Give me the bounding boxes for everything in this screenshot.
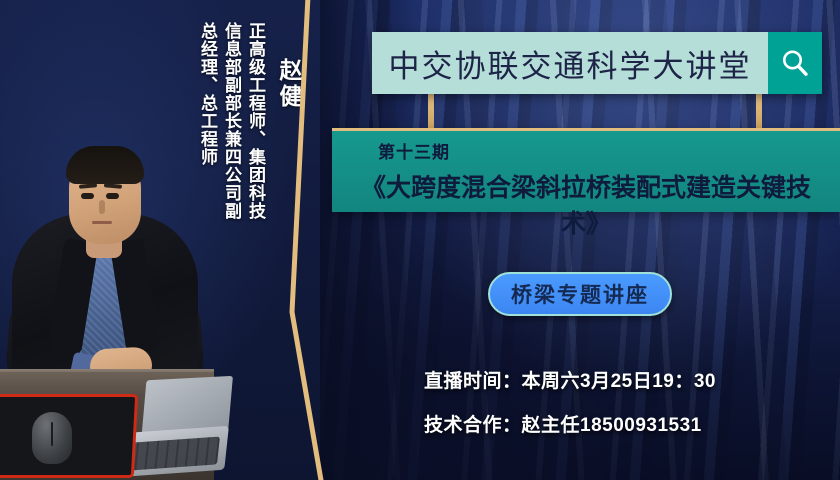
banner-post-left	[428, 94, 434, 130]
topic-title: 《大跨度混合梁斜拉桥装配式建造关键技术》	[346, 168, 826, 240]
portrait-eye-right	[106, 193, 119, 199]
banner-post-right	[756, 94, 762, 130]
category-badge-label: 桥梁专题讲座	[511, 279, 649, 309]
banner-title-text: 中交协联交通科学大讲堂	[389, 41, 752, 86]
title-banner: 中交协联交通科学大讲堂	[372, 32, 822, 94]
speaker-portrait	[0, 108, 206, 480]
portrait-eye-left	[81, 193, 94, 199]
episode-label: 第十三期	[378, 138, 826, 163]
portrait-hair	[66, 146, 144, 184]
speaker-title-line-3: 总经理、总工程师	[195, 22, 220, 166]
title-banner-plate: 中交协联交通科学大讲堂	[372, 32, 768, 94]
portrait-nose	[99, 200, 105, 214]
live-time-text: 直播时间：本周六3月25日19：30	[424, 366, 716, 393]
search-icon[interactable]	[768, 32, 822, 94]
portrait-mouth	[92, 221, 112, 224]
subtitle-panel: 第十三期 《大跨度混合梁斜拉桥装配式建造关键技术》	[332, 128, 840, 212]
speaker-title-line-1: 正高级工程师、集团科技	[243, 22, 268, 220]
speaker-title-line-2: 信息部副部长兼四公司副	[219, 22, 244, 220]
category-badge[interactable]: 桥梁专题讲座	[488, 272, 672, 316]
speaker-name: 赵健	[272, 58, 306, 110]
mouse-scroll-line	[51, 422, 53, 446]
contact-text: 技术合作：赵主任18500931531	[424, 410, 702, 437]
poster-root: 总经理、总工程师 信息部副部长兼四公司副 正高级工程师、集团科技 赵健 中交协联…	[0, 0, 840, 480]
speaker-panel: 总经理、总工程师 信息部副部长兼四公司副 正高级工程师、集团科技 赵健	[0, 0, 320, 480]
